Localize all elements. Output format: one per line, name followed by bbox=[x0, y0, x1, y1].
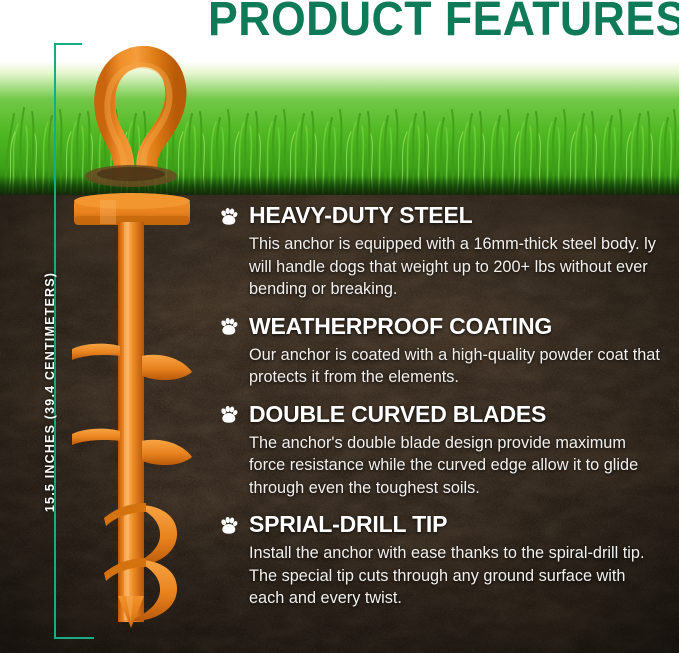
feature-item: HEAVY-DUTY STEEL This anchor is equipped… bbox=[219, 203, 664, 301]
feature-heading-row: DOUBLE CURVED BLADES bbox=[219, 402, 664, 427]
paw-icon bbox=[219, 207, 238, 225]
feature-heading-row: HEAVY-DUTY STEEL bbox=[219, 203, 664, 228]
feature-item: DOUBLE CURVED BLADES The anchor's double… bbox=[219, 402, 664, 500]
product-features-infographic: 15.5 INCHES (39.4 CENTIMETERS) bbox=[0, 0, 679, 653]
feature-description: Install the anchor with ease thanks to t… bbox=[249, 542, 664, 610]
anchor-hook bbox=[105, 56, 176, 174]
feature-heading-row: WEATHERPROOF COATING bbox=[219, 314, 664, 339]
feature-title: WEATHERPROOF COATING bbox=[249, 314, 552, 339]
feature-item: SPRIAL-DRILL TIP Install the anchor with… bbox=[219, 512, 664, 610]
feature-title: HEAVY-DUTY STEEL bbox=[249, 203, 472, 228]
anchor-top-plate bbox=[74, 193, 190, 225]
feature-description: Our anchor is coated with a high-quality… bbox=[249, 344, 664, 389]
paw-icon bbox=[219, 405, 238, 423]
paw-icon bbox=[219, 516, 238, 534]
feature-title: SPRIAL-DRILL TIP bbox=[249, 512, 447, 537]
feature-heading-row: SPRIAL-DRILL TIP bbox=[219, 512, 664, 537]
feature-title: DOUBLE CURVED BLADES bbox=[249, 402, 546, 427]
page-title: PRODUCT FEATURES bbox=[208, 0, 646, 46]
feature-item: WEATHERPROOF COATING Our anchor is coate… bbox=[219, 314, 664, 389]
paw-icon bbox=[219, 317, 238, 335]
feature-list: HEAVY-DUTY STEEL This anchor is equipped… bbox=[219, 203, 664, 610]
ground-anchor-illustration bbox=[0, 0, 240, 653]
feature-description: The anchor's double blade design provide… bbox=[249, 432, 664, 500]
feature-description: This anchor is equipped with a 16mm-thic… bbox=[249, 233, 664, 301]
